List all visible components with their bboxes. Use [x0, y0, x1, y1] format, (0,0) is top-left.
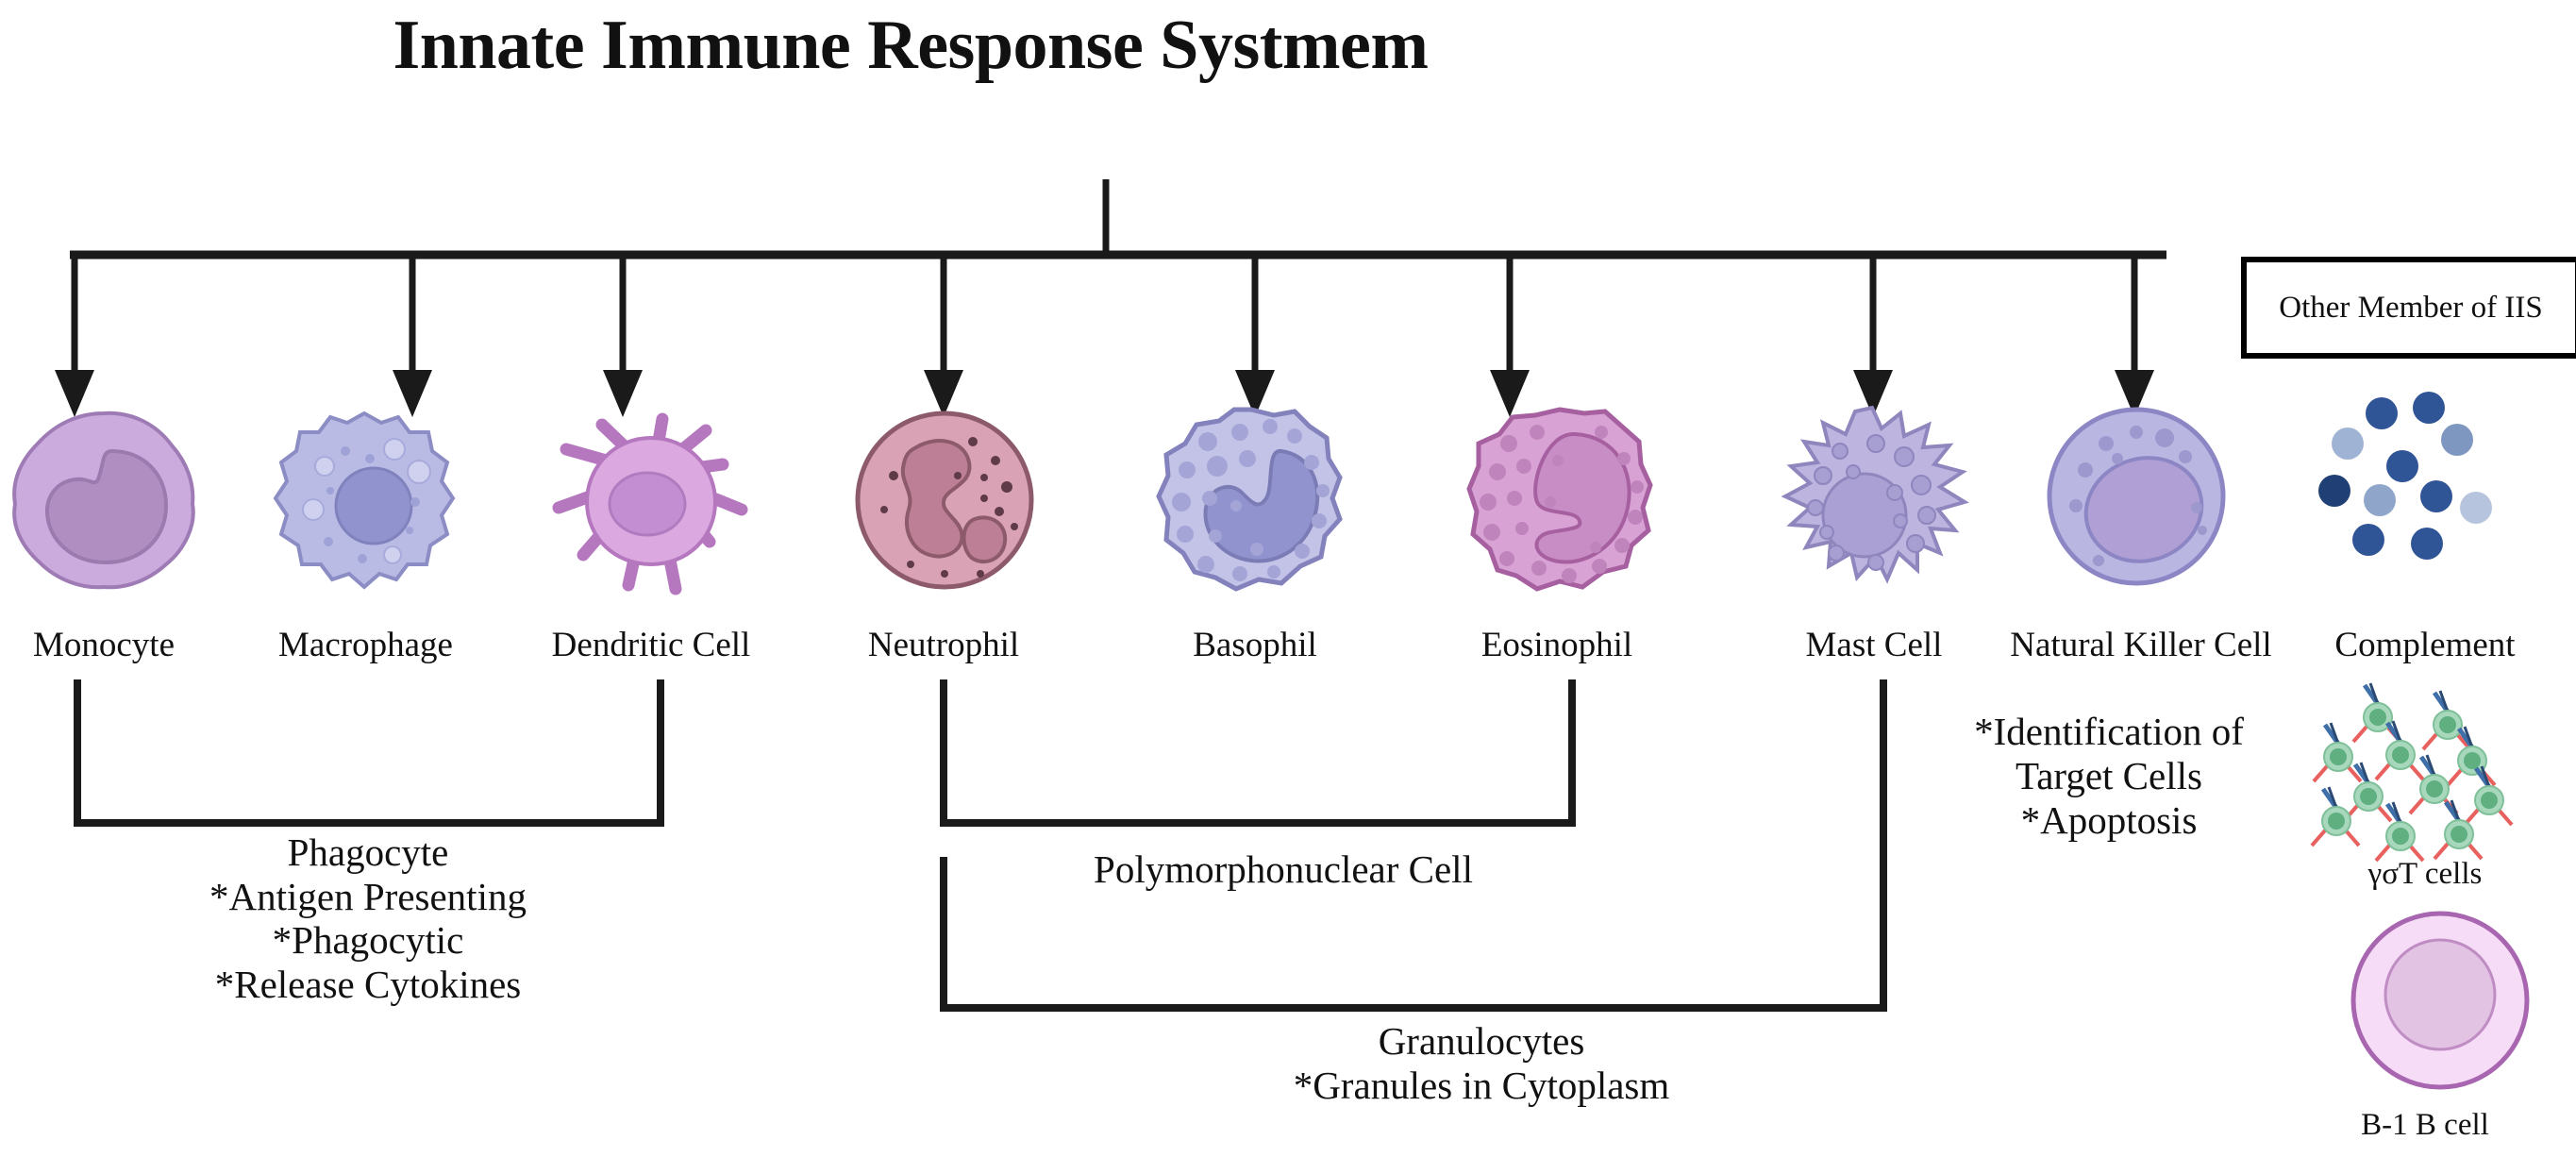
bracket-label-polymorphonuclear: Polymorphonuclear Cell [953, 847, 1614, 892]
other-member-of-iis-label: Other Member of IIS [2279, 291, 2543, 326]
cell-label-neutrophil: Neutrophil [830, 625, 1057, 665]
mast-cell [1778, 404, 1970, 596]
phagocyte-line-3: *Phagocytic [57, 918, 679, 963]
macrophage-cell [272, 408, 457, 593]
b1-b-cell-icon [2346, 908, 2534, 1093]
nk-note-line-3: *Apoptosis [1920, 798, 2298, 843]
natural-killer-cell [2044, 404, 2229, 589]
bracket-label-granulocytes: Granulocytes *Granules in Cytoplasm [1123, 1019, 1840, 1107]
nk-note-line-1: *Identification of [1920, 710, 2298, 754]
complement-proteins-icon [2327, 391, 2516, 570]
b1-b-cell [2346, 908, 2534, 1093]
complement-proteins [2327, 391, 2516, 570]
basophil-cell-icon [1153, 404, 1349, 596]
gamma-delta-t-cells [2310, 696, 2527, 866]
monocyte-cell-icon [0, 406, 208, 595]
mast-cell-icon [1778, 404, 1970, 596]
cell-label-nk: Natural Killer Cell [1985, 625, 2297, 665]
other-member-of-iis-box: Other Member of IIS [2241, 257, 2576, 359]
natural-killer-cell-icon [2044, 404, 2229, 589]
eosinophil-cell [1464, 404, 1656, 596]
cell-label-complement: Complement [2302, 625, 2548, 665]
granulocyte-line-2: *Granules in Cytoplasm [1123, 1064, 1840, 1108]
cell-label-basophil: Basophil [1142, 625, 1368, 665]
granulocyte-line-1: Granulocytes [1123, 1019, 1840, 1064]
pmn-line-1: Polymorphonuclear Cell [953, 847, 1614, 892]
nk-note-line-2: Target Cells [1920, 754, 2298, 798]
gamma-delta-t-cells-icon [2310, 696, 2527, 866]
phagocyte-line-1: Phagocyte [57, 830, 679, 875]
neutrophil-cell-icon [852, 408, 1037, 593]
dendritic-cell-icon [547, 404, 755, 596]
bracket-label-phagocyte: Phagocyte *Antigen Presenting *Phagocyti… [57, 830, 679, 1007]
gamma-delta-t-cells-label: γσT cells [2283, 857, 2567, 892]
cell-label-monocyte: Monocyte [0, 625, 208, 665]
cell-label-dendritic: Dendritic Cell [538, 625, 764, 665]
eosinophil-cell-icon [1464, 404, 1656, 596]
cell-label-eosinophil: Eosinophil [1444, 625, 1670, 665]
phagocyte-line-4: *Release Cytokines [57, 963, 679, 1007]
basophil-cell [1153, 404, 1349, 596]
cell-label-macrophage: Macrophage [255, 625, 477, 665]
natural-killer-function-note: *Identification of Target Cells *Apoptos… [1920, 710, 2298, 843]
b1-b-cell-label: B-1 B cell [2283, 1108, 2567, 1143]
top-connector-lines [0, 0, 2576, 453]
monocyte-cell [0, 406, 208, 595]
macrophage-cell-icon [272, 408, 457, 593]
dendritic-cell [547, 404, 755, 596]
neutrophil-cell [852, 408, 1037, 593]
phagocyte-line-2: *Antigen Presenting [57, 875, 679, 919]
cell-label-mast: Mast Cell [1761, 625, 1987, 665]
